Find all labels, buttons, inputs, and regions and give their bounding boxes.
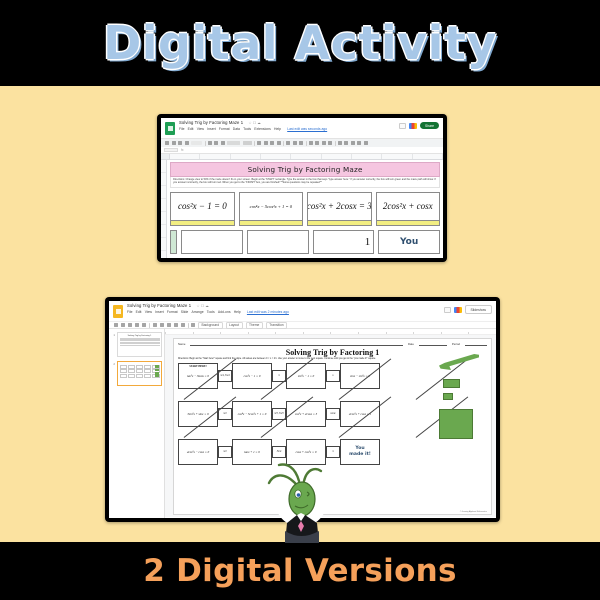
row-header[interactable] — [161, 251, 166, 258]
filmstrip-item[interactable]: 1 Solving Trig by Factoring 1 — [111, 332, 162, 357]
slides-titlebar: Solving Trig by Factoring Maze 1 ☆ ☐ ☁ F… — [109, 301, 496, 321]
toolbar-divider — [149, 323, 150, 328]
answer-input[interactable] — [171, 220, 233, 226]
row-header[interactable] — [161, 173, 166, 186]
answer-input[interactable] — [240, 220, 302, 226]
maze-answer-link[interactable]: 3π/4 — [272, 446, 286, 458]
sheets-menubar[interactable]: File Edit View Insert Format Data Tools … — [179, 126, 395, 132]
path-marker — [170, 230, 177, 254]
sheets-formula-bar[interactable]: fx — [161, 147, 443, 154]
equation-cell[interactable] — [181, 230, 243, 254]
answer-input[interactable] — [377, 220, 439, 226]
insert-link-icon[interactable] — [338, 141, 342, 145]
diagonal-connector — [333, 389, 410, 401]
name-label: Name — [178, 342, 185, 346]
fx-icon: fx — [181, 148, 183, 152]
equation-cell[interactable]: cos⁴x − 5cos²x + 1 = 0 — [239, 192, 303, 227]
print-icon[interactable] — [128, 323, 132, 327]
slide-number: 2 — [111, 361, 115, 366]
finish-cell[interactable]: You — [378, 230, 440, 254]
maze-answer-link[interactable]: none — [326, 408, 340, 420]
rectangle-small-shape[interactable] — [443, 393, 453, 400]
finish-line-2: made it! — [349, 452, 371, 458]
column-header[interactable] — [291, 154, 321, 159]
menu-addons[interactable]: Add-ons — [218, 309, 231, 315]
name-field[interactable] — [190, 343, 403, 347]
toolbar-divider — [254, 141, 255, 146]
strikethrough-icon[interactable] — [270, 141, 274, 145]
line-icon[interactable] — [181, 323, 185, 327]
transition-button[interactable]: Transition — [266, 322, 287, 329]
menu-tools[interactable]: Tools — [243, 126, 251, 132]
maze-box[interactable]: sinx − sin²x = 0 — [340, 363, 380, 389]
menu-insert[interactable]: Insert — [207, 126, 215, 132]
align-icon[interactable] — [309, 141, 313, 145]
percent-icon[interactable] — [214, 141, 218, 145]
diagonal-connector — [178, 389, 255, 401]
row-header[interactable] — [161, 212, 166, 225]
menu-edit[interactable]: Edit — [188, 126, 194, 132]
maze-directions: Directions: Change view to 50% if the ma… — [170, 177, 440, 188]
column-header[interactable] — [322, 154, 352, 159]
column-header[interactable] — [170, 154, 200, 159]
menu-slide[interactable]: Slide — [181, 309, 189, 315]
redo-icon[interactable] — [121, 323, 125, 327]
thumbnail-lines — [120, 338, 160, 346]
maze-equation: cos²x − 1 = 0 — [244, 374, 261, 378]
maze-answer-link[interactable]: π — [326, 446, 340, 458]
undo-icon[interactable] — [165, 141, 169, 145]
filter-icon[interactable] — [357, 141, 361, 145]
slide-number: 1 — [111, 332, 115, 337]
paint-format-icon[interactable] — [135, 323, 139, 327]
zoom-icon[interactable] — [142, 323, 146, 327]
slides-toolbar[interactable]: Background Layout Theme Transition — [109, 321, 496, 329]
menu-data[interactable]: Data — [233, 126, 240, 132]
sheets-toolbar[interactable] — [161, 138, 443, 147]
last-edit-link[interactable]: Last edit was seconds ago — [287, 126, 327, 132]
maze-equation: 3sin²x + sinx = 0 — [187, 412, 208, 416]
period-field[interactable] — [465, 343, 487, 347]
image-icon[interactable] — [167, 323, 171, 327]
toolbar-divider — [306, 141, 307, 146]
select-tool-icon[interactable] — [153, 323, 157, 327]
last-edit-link[interactable]: Last edit was 2 minutes ago — [247, 309, 289, 315]
menu-view[interactable]: View — [145, 309, 152, 315]
equation-row-2: 1 You — [170, 230, 440, 254]
square-large-shape[interactable] — [439, 409, 473, 439]
maze-finish-box[interactable]: You made it! — [340, 439, 380, 465]
menu-format[interactable]: Format — [219, 126, 230, 132]
slides-menubar[interactable]: File Edit View Insert Format Slide Arran… — [127, 309, 440, 315]
comment-history-icon[interactable] — [444, 307, 451, 313]
text-color-icon[interactable] — [277, 141, 281, 145]
menu-help[interactable]: Help — [274, 126, 281, 132]
rectangle-wide-shape[interactable] — [443, 379, 460, 388]
menu-file[interactable]: File — [127, 309, 132, 315]
text-wrap-icon[interactable] — [322, 141, 326, 145]
period-label: Period — [452, 342, 460, 346]
equation-cell[interactable]: cos²x − 1 = 0 — [170, 192, 234, 227]
top-banner: Digital Activity — [0, 0, 600, 86]
theme-button[interactable]: Theme — [246, 322, 263, 329]
thumbnail-maze-grid — [120, 365, 160, 379]
diagonal-connector — [255, 427, 332, 439]
row-header[interactable] — [161, 238, 166, 251]
slide-filmstrip[interactable]: 1 Solving Trig by Factoring 1 2 — [109, 329, 165, 518]
maze-equation: sin²x − 1 = 0 — [298, 374, 314, 378]
menu-format[interactable]: Format — [167, 309, 178, 315]
select-all-corner[interactable] — [161, 154, 170, 159]
date-label: Date — [408, 342, 414, 346]
paint-format-icon[interactable] — [185, 141, 189, 145]
alien-mascot — [265, 461, 337, 543]
insert-comment-icon[interactable] — [344, 141, 348, 145]
comment-history-icon[interactable] — [399, 123, 406, 129]
zoom-select[interactable] — [191, 141, 202, 146]
menu-help[interactable]: Help — [234, 309, 241, 315]
fill-color-icon[interactable] — [286, 141, 290, 145]
slideshow-button[interactable]: Slideshow — [465, 305, 492, 314]
decimal-icon[interactable] — [221, 141, 225, 145]
borders-icon[interactable] — [293, 141, 297, 145]
sheets-icon — [165, 122, 175, 135]
merge-cells-icon[interactable] — [299, 141, 303, 145]
background-button[interactable]: Background — [198, 322, 223, 329]
equation-text: cos²x + 2cosx = 3 — [308, 193, 370, 220]
italic-icon[interactable] — [264, 141, 268, 145]
column-header[interactable] — [200, 154, 230, 159]
green-shapes-group[interactable] — [439, 353, 485, 439]
column-header[interactable] — [261, 154, 291, 159]
equation-text: cos²x − 1 = 0 — [171, 193, 233, 220]
share-button[interactable]: Share — [420, 122, 439, 129]
maze-answer-link[interactable]: π/2 — [218, 446, 232, 458]
meet-icon[interactable] — [454, 307, 462, 313]
filmstrip-item[interactable]: 2 — [111, 361, 162, 386]
menu-file[interactable]: File — [179, 126, 184, 132]
textbox-icon[interactable] — [160, 323, 164, 327]
redo-icon[interactable] — [172, 141, 176, 145]
diagonal-connector — [178, 427, 255, 439]
maze-equation: cosx + cos²x = 0 — [296, 450, 317, 454]
answer-input[interactable] — [308, 220, 370, 226]
date-field[interactable] — [419, 343, 447, 347]
google-sheets-screenshot: Solving Trig by Factoring Maze 1 ☆ ☐ ☁ F… — [157, 114, 447, 262]
name-box[interactable] — [164, 148, 178, 152]
row-header[interactable] — [161, 160, 166, 173]
toolbar-divider — [335, 141, 336, 146]
equation-text: 2cos²x + cosx — [377, 193, 439, 220]
diagonal-connector — [255, 389, 332, 401]
functions-icon[interactable] — [364, 141, 368, 145]
font-size-select[interactable] — [243, 141, 252, 145]
slides-icon — [113, 305, 123, 318]
menu-tools[interactable]: Tools — [207, 309, 215, 315]
sheet-grid[interactable]: Solving Trig by Factoring Maze Direction… — [167, 160, 443, 258]
equation-cell[interactable]: 2cos²x + cosx — [376, 192, 440, 227]
menu-edit[interactable]: Edit — [136, 309, 142, 315]
vertical-align-icon[interactable] — [315, 141, 319, 145]
thumbnail-shapes — [155, 365, 159, 378]
menu-extensions[interactable]: Extensions — [254, 126, 271, 132]
row-header[interactable] — [161, 199, 166, 212]
comment-icon[interactable] — [191, 323, 195, 327]
equation-cell[interactable] — [247, 230, 309, 254]
column-header[interactable] — [382, 154, 412, 159]
menu-arrange[interactable]: Arrange — [192, 309, 204, 315]
text-rotate-icon[interactable] — [328, 141, 332, 145]
bottom-banner: 2 Digital Versions — [0, 542, 600, 600]
toolbar-divider — [205, 141, 206, 146]
meet-icon[interactable] — [409, 123, 417, 129]
maze-equation: tan²x − 3tanx = 0 — [187, 374, 209, 378]
equation-text: cos⁴x − 5cos²x + 1 = 0 — [240, 193, 302, 220]
column-header[interactable] — [352, 154, 382, 159]
worksheet-header-fields: Name Date Period — [178, 342, 487, 346]
maze-box[interactable]: 2cos²x + cosx = 1 — [340, 401, 380, 427]
maze-answer-link[interactable]: x — [326, 370, 340, 382]
maze-equation: 4cos²x − cosx = 0 — [187, 450, 209, 454]
diagonal-connector — [333, 427, 410, 439]
undo-icon[interactable] — [114, 323, 118, 327]
equation-cell[interactable]: cos²x + 2cosx = 3 — [307, 192, 371, 227]
footer-title: 2 Digital Versions — [143, 553, 457, 589]
worksheet-credit: © Growing Algebraic Mathematics — [460, 511, 487, 513]
insert-chart-icon[interactable] — [351, 141, 355, 145]
currency-icon[interactable] — [208, 141, 212, 145]
row-header[interactable] — [161, 225, 166, 238]
maze-box[interactable]: cos²x − 1 = 0 — [232, 363, 272, 389]
page-title: Digital Activity — [103, 16, 497, 70]
column-header[interactable] — [231, 154, 261, 159]
layout-button[interactable]: Layout — [226, 322, 243, 329]
font-select[interactable] — [227, 141, 240, 145]
maze-equation: cos⁴x − 5cos²x + 1 = 0 — [238, 412, 267, 416]
maze-equation: tanx + 1 = 0 — [244, 450, 260, 454]
equation-row-1: cos²x − 1 = 0 cos⁴x − 5cos²x + 1 = 0 cos… — [170, 192, 440, 227]
toolbar-divider — [188, 323, 189, 328]
toolbar-divider — [283, 141, 284, 146]
equation-cell[interactable]: 1 — [313, 230, 375, 254]
start-here-label: START HERE! — [179, 365, 217, 368]
maze-box[interactable]: sin²x − 1 = 0 — [286, 363, 326, 389]
menu-insert[interactable]: Insert — [155, 309, 163, 315]
column-header[interactable] — [413, 154, 443, 159]
maze-box[interactable]: cos²x + 2cosx = 3 — [286, 401, 326, 427]
menu-view[interactable]: View — [197, 126, 204, 132]
shape-icon[interactable] — [174, 323, 178, 327]
print-icon[interactable] — [178, 141, 182, 145]
maze-title: Solving Trig by Factoring Maze — [170, 162, 440, 177]
maze-box[interactable]: 4cos²x − cosx = 0 — [178, 439, 218, 465]
bold-icon[interactable] — [257, 141, 261, 145]
row-header[interactable] — [161, 186, 166, 199]
arrow-ribbon-shape[interactable] — [439, 353, 479, 370]
maze-box[interactable]: cos⁴x − 5cos²x + 1 = 0 — [232, 401, 272, 427]
thumbnail-title: Solving Trig by Factoring 1 — [120, 335, 160, 337]
slide-thumbnail-1[interactable]: Solving Trig by Factoring 1 — [117, 332, 162, 357]
maze-equation: cos²x + 2cosx = 3 — [295, 412, 317, 416]
slide-thumbnail-2[interactable] — [117, 361, 162, 386]
sheets-titlebar: Solving Trig by Factoring Maze 1 ☆ ☐ ☁ F… — [161, 118, 443, 138]
